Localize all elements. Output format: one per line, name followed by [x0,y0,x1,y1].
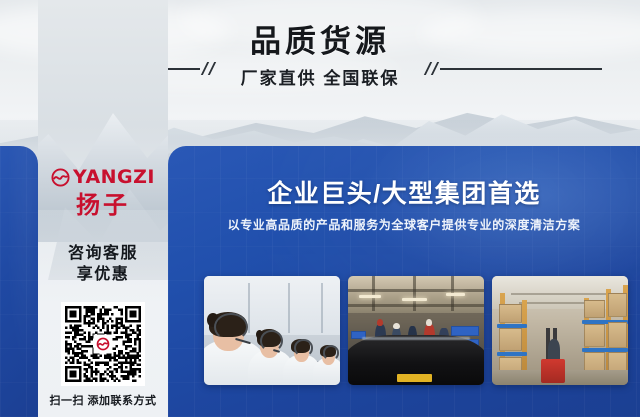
cta-line-2: 享优惠 [38,264,168,285]
yangzi-wave-logo-icon [51,168,70,187]
qr-code[interactable] [61,302,145,386]
pallet-box [584,324,604,347]
photo-tile-row [204,276,628,385]
main-headline-block: 企业巨头/大型集团首选 以专业高品质的产品和服务为全球客户提供专业的深度清洁方案 [168,182,640,231]
pallet-box [499,304,522,323]
pallet-box [608,293,627,317]
qr-center-logo [94,335,113,354]
worker-helmet [377,319,384,327]
automotive-assembly-line-photo[interactable] [348,276,484,385]
panel-texture [0,146,38,417]
ceiling-lamp [359,295,381,298]
pallet-box [499,328,522,351]
main-title: 企业巨头/大型集团首选 [168,182,640,207]
forklift-driver [548,339,560,359]
pallet-box [584,300,604,319]
yangzi-wave-logo-icon [97,338,110,351]
forklift-body [541,359,565,383]
car-highlight [362,337,471,340]
pallet-box [608,322,627,348]
parts-bin [451,326,478,336]
worker-helmet [393,323,400,330]
cta-line-1: 咨询客服 [38,243,168,264]
left-blue-panel [0,146,38,417]
partition-line [321,283,323,333]
warehouse-logistics-photo[interactable] [492,276,628,385]
brand-logo-row: YANGZI [38,168,168,187]
brand-name-en: YANGZI [73,168,155,187]
worker-helmet [426,319,433,327]
ceiling-post [372,276,375,311]
main-subtitle: 以专业高品质的产品和服务为全球客户提供专业的深度清洁方案 [168,219,640,231]
roof-rail [511,293,609,295]
promo-banner: 品质货源 厂家直供 全国联保 YANGZI 扬子 咨询客服 享优惠 [0,0,640,417]
brand-name-cn: 扬子 [38,194,168,218]
qr-caption: 扫一扫 添加联系方式 [38,392,168,408]
customer-service-team-photo[interactable] [204,276,340,385]
brand-block: YANGZI 扬子 [38,168,168,218]
ceiling-post [413,276,416,311]
agent-figure [313,339,340,385]
cta-block: 咨询客服 享优惠 [38,243,168,285]
ceiling-lamp [402,298,426,301]
conveyor-pallet [397,374,432,382]
ceiling-lamp [446,293,465,296]
